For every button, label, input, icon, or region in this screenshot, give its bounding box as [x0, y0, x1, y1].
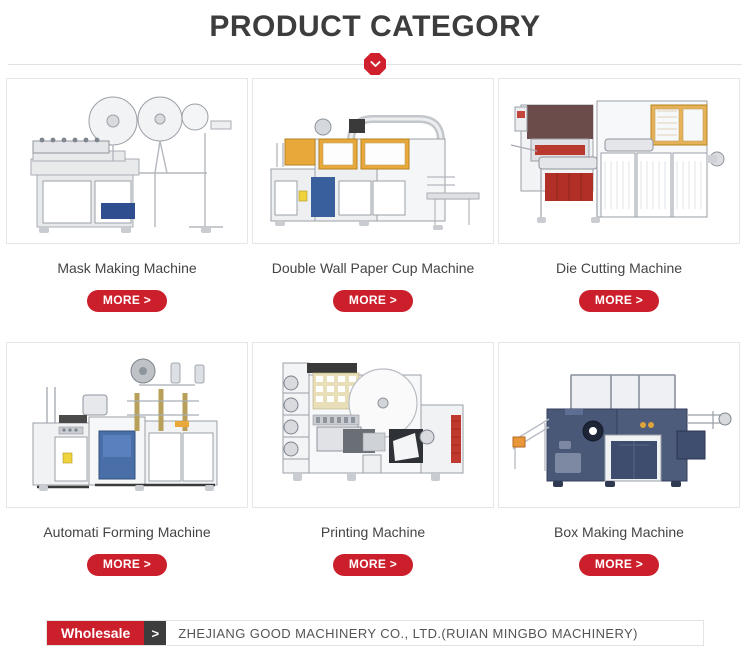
product-grid: Mask Making Machine MORE > — [0, 78, 750, 576]
chevron-right-icon: > — [144, 621, 166, 645]
product-card[interactable]: Double Wall Paper Cup Machine MORE > — [252, 78, 494, 312]
product-title: Printing Machine — [252, 523, 494, 541]
more-button[interactable]: MORE > — [579, 290, 659, 312]
page-header: PRODUCT CATEGORY — [0, 0, 750, 78]
more-button[interactable]: MORE > — [333, 554, 413, 576]
product-more-wrap: MORE > — [6, 290, 248, 312]
product-more-wrap: MORE > — [6, 554, 248, 576]
grid-row-gap — [6, 316, 744, 338]
wholesale-tag[interactable]: Wholesale — [47, 621, 144, 645]
product-image-printing-machine[interactable] — [252, 342, 494, 508]
product-image-double-wall-paper-cup-machine[interactable] — [252, 78, 494, 244]
product-more-wrap: MORE > — [498, 290, 740, 312]
company-name: ZHEJIANG GOOD MACHINERY CO., LTD.(RUIAN … — [166, 621, 703, 645]
product-image-die-cutting-machine[interactable] — [498, 78, 740, 244]
product-more-wrap: MORE > — [252, 554, 494, 576]
product-card[interactable]: Box Making Machine MORE > — [498, 342, 740, 576]
more-button[interactable]: MORE > — [87, 290, 167, 312]
product-card[interactable]: Die Cutting Machine MORE > — [498, 78, 740, 312]
product-card[interactable]: Automati Forming Machine MORE > — [6, 342, 248, 576]
page-title: PRODUCT CATEGORY — [0, 8, 750, 46]
product-more-wrap: MORE > — [252, 290, 494, 312]
more-button[interactable]: MORE > — [87, 554, 167, 576]
wholesale-bar: Wholesale > ZHEJIANG GOOD MACHINERY CO.,… — [46, 620, 704, 646]
product-image-mask-making-machine[interactable] — [6, 78, 248, 244]
more-button[interactable]: MORE > — [579, 554, 659, 576]
product-image-automatic-forming-machine[interactable] — [6, 342, 248, 508]
product-title: Automati Forming Machine — [6, 523, 248, 541]
chevron-down-icon — [364, 53, 386, 75]
product-image-box-making-machine[interactable] — [498, 342, 740, 508]
product-title: Box Making Machine — [498, 523, 740, 541]
product-title: Mask Making Machine — [6, 259, 248, 277]
footer: Wholesale > ZHEJIANG GOOD MACHINERY CO.,… — [0, 620, 750, 646]
product-title: Die Cutting Machine — [498, 259, 740, 277]
title-divider — [0, 50, 750, 78]
more-button[interactable]: MORE > — [333, 290, 413, 312]
product-card[interactable]: Printing Machine MORE > — [252, 342, 494, 576]
product-card[interactable]: Mask Making Machine MORE > — [6, 78, 248, 312]
product-title: Double Wall Paper Cup Machine — [252, 259, 494, 277]
product-more-wrap: MORE > — [498, 554, 740, 576]
